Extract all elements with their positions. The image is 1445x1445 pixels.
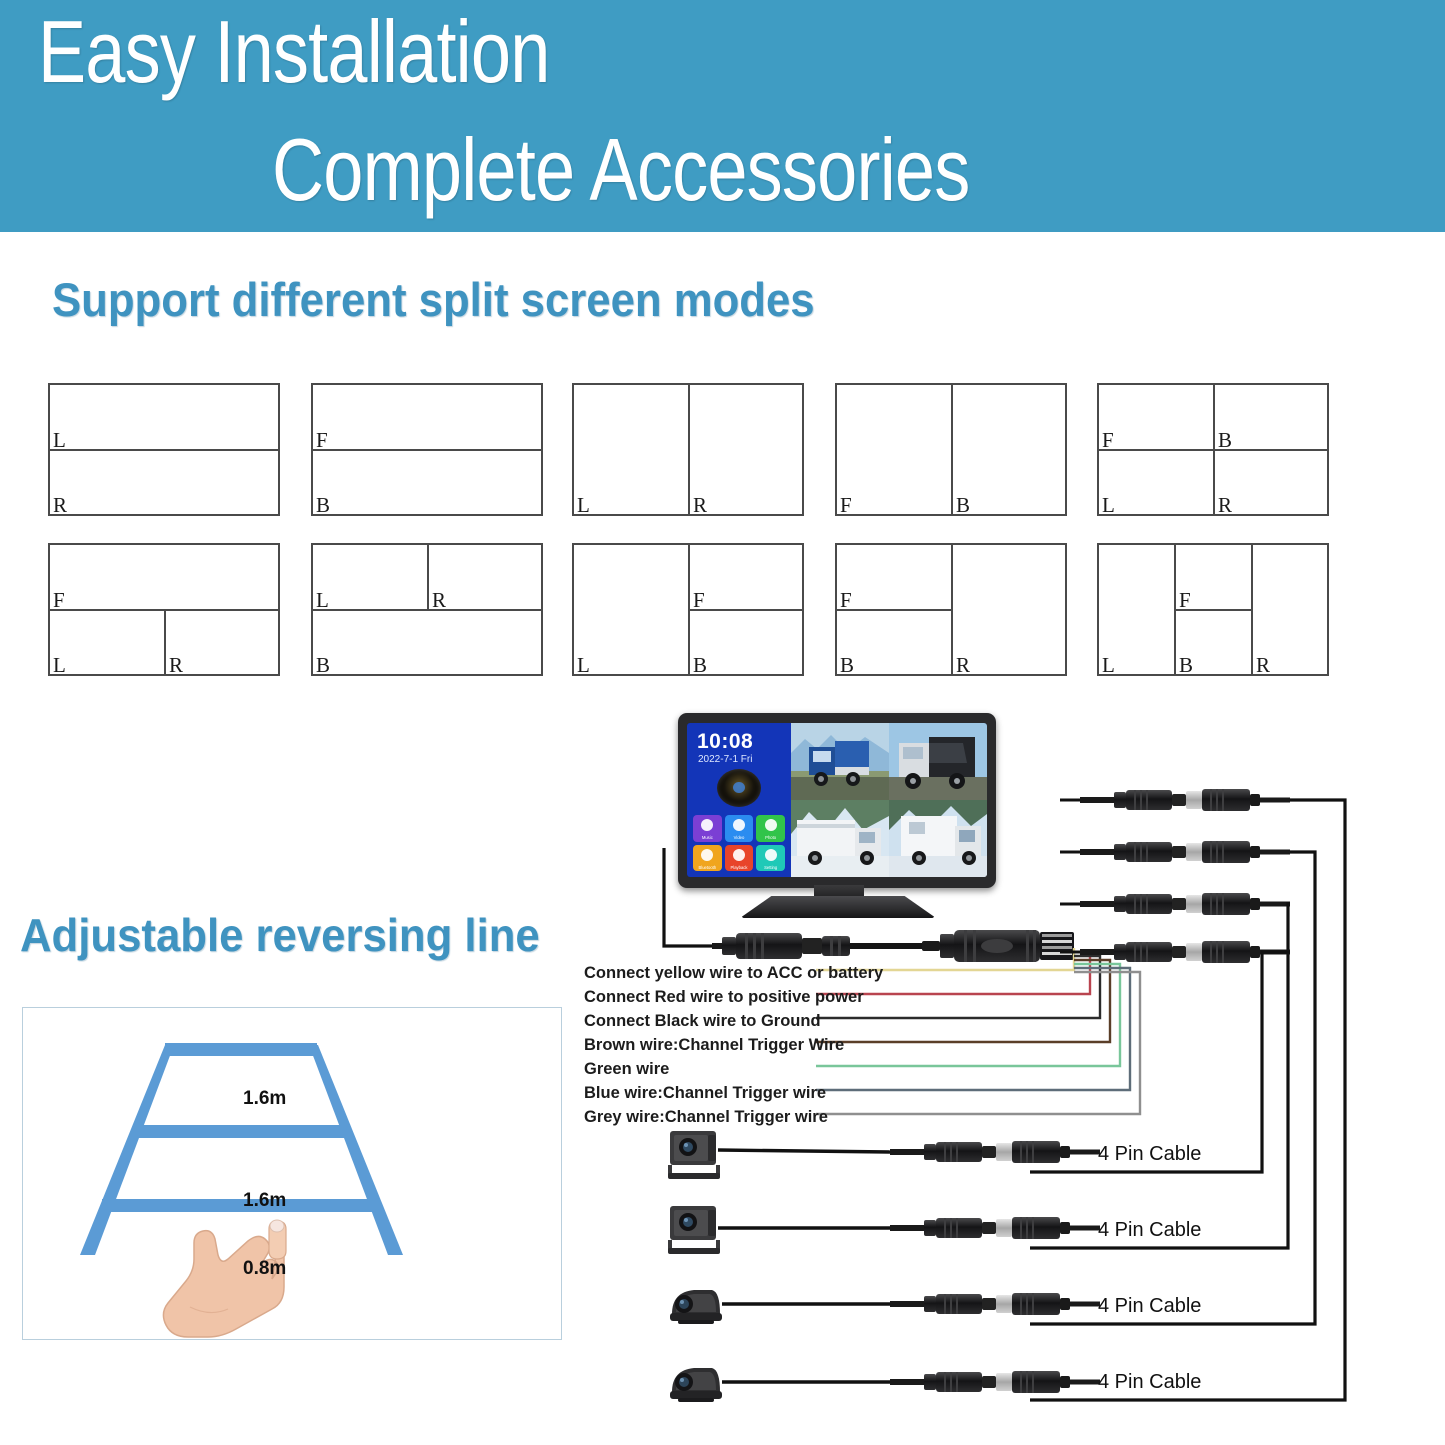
mode-diagram-3: L R: [572, 383, 804, 516]
pane-label: B: [1179, 655, 1193, 674]
wire-label-green: Green wire: [584, 1060, 669, 1079]
pane-label: F: [1102, 430, 1114, 449]
mode-diagram-6: F L R: [48, 543, 280, 676]
main-barrel-connector: [712, 933, 942, 959]
pane: L: [50, 385, 278, 449]
pane: F: [690, 545, 802, 609]
pane: L: [313, 545, 427, 609]
pane-label: F: [840, 590, 852, 609]
monitor-cable-route: [664, 848, 712, 946]
pane-label: R: [53, 495, 67, 514]
pane-label: R: [693, 495, 707, 514]
pane-label: B: [316, 655, 330, 674]
pane-label: B: [1218, 430, 1232, 449]
pane-label: L: [577, 495, 590, 514]
wire-label-black: Connect Black wire to Ground: [584, 1012, 821, 1031]
pane: B: [313, 451, 541, 514]
pane: R: [50, 451, 278, 514]
pane-label: F: [316, 430, 328, 449]
pane-label: L: [53, 430, 66, 449]
monitor-power-cable: [0, 840, 712, 946]
pane-label: B: [840, 655, 854, 674]
pane-label: R: [1218, 495, 1232, 514]
pane-label: L: [1102, 655, 1115, 674]
route-cam1: [1030, 952, 1290, 1172]
pane-label: F: [53, 590, 65, 609]
pane-label: R: [956, 655, 970, 674]
split-mode-diagram-group: L R F B L R: [0, 0, 1445, 700]
pane-label: F: [840, 495, 852, 514]
mode-diagram-8: L F B: [572, 543, 804, 676]
pane-label: L: [1102, 495, 1115, 514]
camera-box-1: [668, 1131, 720, 1179]
mode-diagram-2: F B: [311, 383, 543, 516]
pane: B: [837, 611, 951, 674]
infographic-page: Easy Installation Complete Accessories S…: [0, 0, 1445, 1445]
pane: B: [1176, 611, 1251, 674]
wire-label-brown: Brown wire:Channel Trigger Wire: [584, 1036, 844, 1055]
pane: F: [837, 545, 951, 609]
pane: R: [429, 545, 541, 609]
pane-label: R: [1256, 655, 1270, 674]
mode-diagram-9: F B R: [835, 543, 1067, 676]
mode-diagram-7: L R B: [311, 543, 543, 676]
pin-cable-label-4: 4 Pin Cable: [1098, 1371, 1201, 1394]
pane: L: [1099, 545, 1174, 674]
wire-blue: [816, 968, 1130, 1090]
pin-cable-label-1: 4 Pin Cable: [1098, 1143, 1201, 1166]
pane-label: B: [316, 495, 330, 514]
mode-diagram-4: F B: [835, 383, 1067, 516]
pane: L: [574, 385, 688, 514]
wiring-diagram: [0, 700, 1445, 1445]
pane-label: R: [169, 655, 183, 674]
pane: R: [1215, 451, 1327, 514]
route-cam3: [1030, 852, 1315, 1324]
pin-cable-label-3: 4 Pin Cable: [1098, 1295, 1201, 1318]
pane-label: R: [432, 590, 446, 609]
mode-diagram-5: F B L R: [1097, 383, 1329, 516]
pane: F: [837, 385, 951, 514]
wire-label-blue: Blue wire:Channel Trigger wire: [584, 1084, 826, 1103]
wire-label-red: Connect Red wire to positive power: [584, 988, 864, 1007]
camera-wedge-1: [670, 1290, 722, 1324]
pane: B: [313, 611, 541, 674]
pane-label: L: [53, 655, 66, 674]
pane: B: [953, 385, 1065, 514]
pane-label: F: [693, 590, 705, 609]
pane: R: [166, 611, 278, 674]
pane-label: L: [577, 655, 590, 674]
pane: R: [1253, 545, 1327, 674]
pane: L: [574, 545, 688, 674]
pane-label: B: [693, 655, 707, 674]
pane: F: [1176, 545, 1251, 609]
mode-diagram-1: L R: [48, 383, 280, 516]
pane-label: B: [956, 495, 970, 514]
wire-label-yellow: Connect yellow wire to ACC or battery: [584, 964, 883, 983]
pane: F: [50, 545, 278, 609]
camera-wedge-2: [670, 1368, 722, 1402]
pane: F: [313, 385, 541, 449]
pane: L: [1099, 451, 1213, 514]
mode-diagram-10: L F B R: [1097, 543, 1329, 676]
pin-cable-label-2: 4 Pin Cable: [1098, 1219, 1201, 1242]
camera-box-2: [668, 1206, 720, 1254]
wire-breakout-connector: [922, 930, 1074, 962]
pane: L: [50, 611, 164, 674]
wire-label-grey: Grey wire:Channel Trigger wire: [584, 1108, 828, 1127]
pane: R: [953, 545, 1065, 674]
pane: B: [1215, 385, 1327, 449]
pane: R: [690, 385, 802, 514]
pane-label: L: [316, 590, 329, 609]
pane-label: F: [1179, 590, 1191, 609]
pane: F: [1099, 385, 1213, 449]
pane: B: [690, 611, 802, 674]
